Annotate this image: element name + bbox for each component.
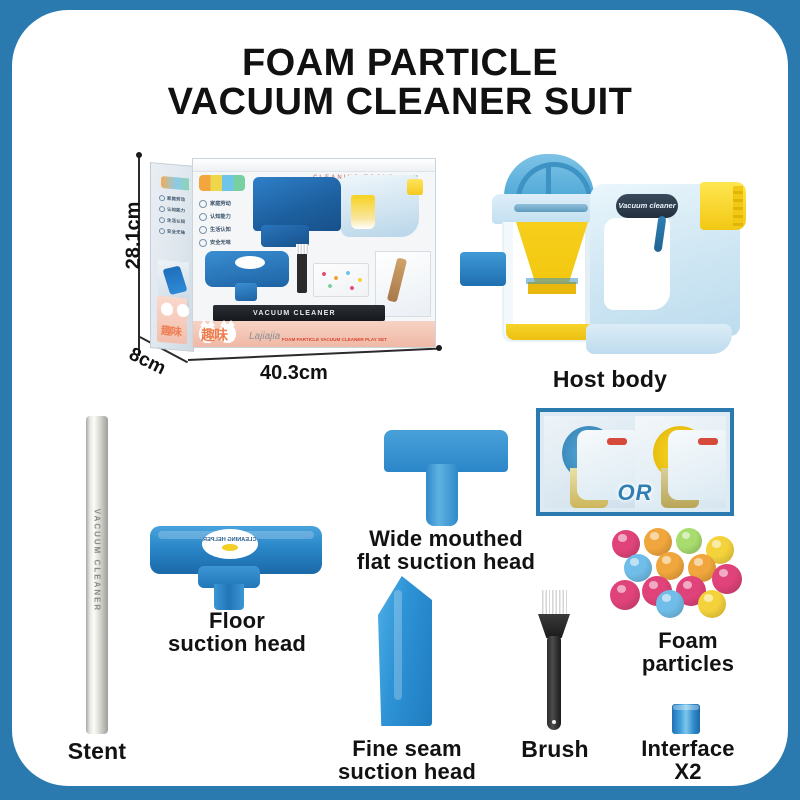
foam-ball bbox=[676, 528, 702, 554]
side-feature-2: 认知能力 bbox=[159, 205, 189, 215]
package-box-section: 28.1cm 8cm 40.3cm 家庭劳动 认知能力 bbox=[130, 150, 440, 365]
side-feature-3: 生活认知 bbox=[159, 216, 189, 226]
boxart-brush bbox=[297, 253, 307, 293]
package-feature-2: 认知能力 bbox=[199, 212, 251, 221]
host-exhaust-nozzle bbox=[700, 182, 746, 230]
package-bottom-band: 趣味 Lajiajia FOAM PARTICLE VACUUM CLEANER… bbox=[193, 321, 435, 347]
host-cone-ring bbox=[526, 278, 578, 284]
host-body-illustration: Vacuum cleaner bbox=[460, 148, 760, 398]
host-collar-slot bbox=[514, 204, 588, 212]
boxart-dust-cup bbox=[351, 195, 375, 229]
right-label-tag bbox=[698, 438, 718, 445]
side-mascot-1 bbox=[161, 302, 173, 316]
package-box: 家庭劳动 认知能力 生活认知 安全无味 bbox=[150, 158, 436, 354]
stent-tube-text: VACUUM CLEANER bbox=[93, 501, 102, 621]
host-body-label: Host body bbox=[460, 368, 760, 392]
wide-flat-head-label: Wide mouthed flat suction head bbox=[346, 528, 546, 573]
side-bottom-band: 趣味 bbox=[157, 296, 187, 345]
poster-panel: FOAM PARTICLE VACUUM CLEANER SUIT 28.1cm… bbox=[12, 10, 788, 786]
brush-handle bbox=[547, 636, 561, 730]
host-badge-text: Vacuum cleaner bbox=[618, 202, 675, 210]
host-inlet-port bbox=[460, 252, 506, 286]
boxart-host-body bbox=[341, 175, 419, 237]
floor-suction-head-label: Floor suction head bbox=[146, 610, 328, 655]
boxart-blue-body bbox=[253, 177, 341, 231]
feature-icon-2 bbox=[199, 213, 207, 221]
side-feature-label-1: 家庭劳动 bbox=[167, 195, 185, 203]
title-line-1: FOAM PARTICLE bbox=[12, 44, 788, 83]
foam-particles-label: Foam particles bbox=[608, 630, 768, 675]
side-feature-label-2: 认知能力 bbox=[167, 206, 185, 214]
boxart-particles bbox=[318, 268, 364, 292]
page-title: FOAM PARTICLE VACUUM CLEANER SUIT bbox=[12, 44, 788, 122]
fine-seam-head-body bbox=[378, 576, 432, 726]
floor-sticker-text: CLEANING HELPER bbox=[203, 537, 256, 543]
stent-tube: VACUUM CLEANER bbox=[86, 416, 108, 734]
package-brand-zh: 趣味 bbox=[201, 325, 227, 345]
stent-label: Stent bbox=[27, 740, 167, 764]
foam-ball bbox=[656, 590, 684, 618]
host-gun-body: Vacuum cleaner bbox=[590, 184, 740, 336]
host-canister-base bbox=[506, 324, 594, 340]
interface-connector bbox=[672, 704, 700, 734]
package-product-name: VACUUM CLEANER bbox=[253, 310, 336, 317]
fine-seam-head-label: Fine seam suction head bbox=[312, 738, 502, 783]
title-line-2: VACUUM CLEANER SUIT bbox=[12, 83, 788, 122]
side-feature-1: 家庭劳动 bbox=[159, 194, 189, 204]
package-product-name-band: VACUUM CLEANER bbox=[213, 305, 385, 321]
foam-ball bbox=[698, 590, 726, 618]
package-feature-1: 家庭劳动 bbox=[199, 199, 251, 208]
boxart-particle-card bbox=[313, 263, 369, 297]
feature-icon-1 bbox=[199, 200, 207, 208]
side-feature-label-3: 生活认知 bbox=[167, 217, 185, 225]
side-brand-logo bbox=[161, 176, 189, 191]
host-brand-badge: Vacuum cleaner bbox=[616, 194, 678, 218]
package-brand-logo bbox=[199, 175, 245, 191]
package-feature-3: 生活认知 bbox=[199, 225, 251, 234]
side-feature-icon-1 bbox=[159, 194, 165, 201]
brush-label: Brush bbox=[490, 738, 620, 762]
side-feature-label-4: 安全无味 bbox=[167, 228, 185, 236]
poster-frame: FOAM PARTICLE VACUUM CLEANER SUIT 28.1cm… bbox=[0, 0, 800, 800]
floor-head-sticker: CLEANING HELPER bbox=[202, 529, 258, 559]
foam-particles-illustration bbox=[608, 528, 766, 620]
floor-suction-head-illustration: CLEANING HELPER bbox=[150, 526, 322, 606]
wide-head-stem bbox=[426, 464, 458, 526]
side-feature-icon-3 bbox=[159, 216, 165, 223]
feature-icon-3 bbox=[199, 226, 207, 234]
filter-variant-inner: OR bbox=[544, 416, 726, 508]
dimension-label-height: 28.1cm bbox=[123, 196, 146, 276]
package-red-subtext: FOAM PARTICLE VACUUM CLEANER PLAY SET bbox=[282, 337, 387, 343]
package-feature-4: 安全无味 bbox=[199, 238, 251, 247]
feature-label-4: 安全无味 bbox=[210, 239, 231, 246]
feature-label-2: 认知能力 bbox=[210, 213, 231, 220]
side-mascot-2 bbox=[177, 303, 189, 317]
package-box-side-content: 家庭劳动 认知能力 生活认知 安全无味 bbox=[155, 168, 189, 347]
dimension-dot-right bbox=[436, 345, 442, 351]
right-host-body bbox=[668, 430, 726, 500]
package-top-strip bbox=[193, 159, 435, 172]
boxart-sticker bbox=[235, 256, 265, 269]
floor-head-stem bbox=[214, 584, 244, 610]
brush-illustration bbox=[536, 590, 572, 730]
feature-icon-4 bbox=[199, 239, 207, 247]
host-foot bbox=[586, 324, 732, 354]
feature-label-1: 家庭劳动 bbox=[210, 200, 231, 207]
side-feature-icon-4 bbox=[159, 227, 165, 234]
feature-label-3: 生活认知 bbox=[210, 226, 231, 233]
left-label-tag bbox=[607, 438, 627, 445]
host-dust-canister bbox=[502, 222, 598, 342]
brush-ferrule bbox=[538, 614, 570, 638]
dimension-dot-top bbox=[136, 152, 142, 158]
side-feature-icon-2 bbox=[159, 205, 165, 212]
foam-ball bbox=[610, 580, 640, 610]
brush-bristles bbox=[540, 590, 568, 616]
package-box-front-panel: CLEANING TOOLS 3岁 9+ 家庭劳动 认知能力 bbox=[192, 158, 436, 348]
boxart-floor-head bbox=[205, 251, 289, 287]
interface-label: Interface X2 bbox=[618, 738, 758, 783]
package-box-side-panel: 家庭劳动 认知能力 生活认知 安全无味 bbox=[150, 162, 194, 352]
wide-flat-head-illustration bbox=[384, 430, 508, 528]
host-cyclone-cone bbox=[516, 222, 588, 286]
interface-illustration bbox=[672, 704, 700, 734]
dimension-label-width: 40.3cm bbox=[260, 362, 328, 385]
boxart-nozzle bbox=[407, 179, 423, 195]
floor-sticker-emblem bbox=[222, 544, 238, 551]
filter-variant-panel: OR bbox=[536, 408, 734, 516]
foam-ball bbox=[712, 564, 742, 594]
side-feature-4: 安全无味 bbox=[159, 227, 189, 237]
fine-seam-head-illustration bbox=[378, 576, 432, 726]
side-brand-zh: 趣味 bbox=[161, 322, 181, 340]
package-brand-latin: Lajiajia bbox=[249, 331, 280, 342]
or-badge: OR bbox=[618, 480, 653, 506]
